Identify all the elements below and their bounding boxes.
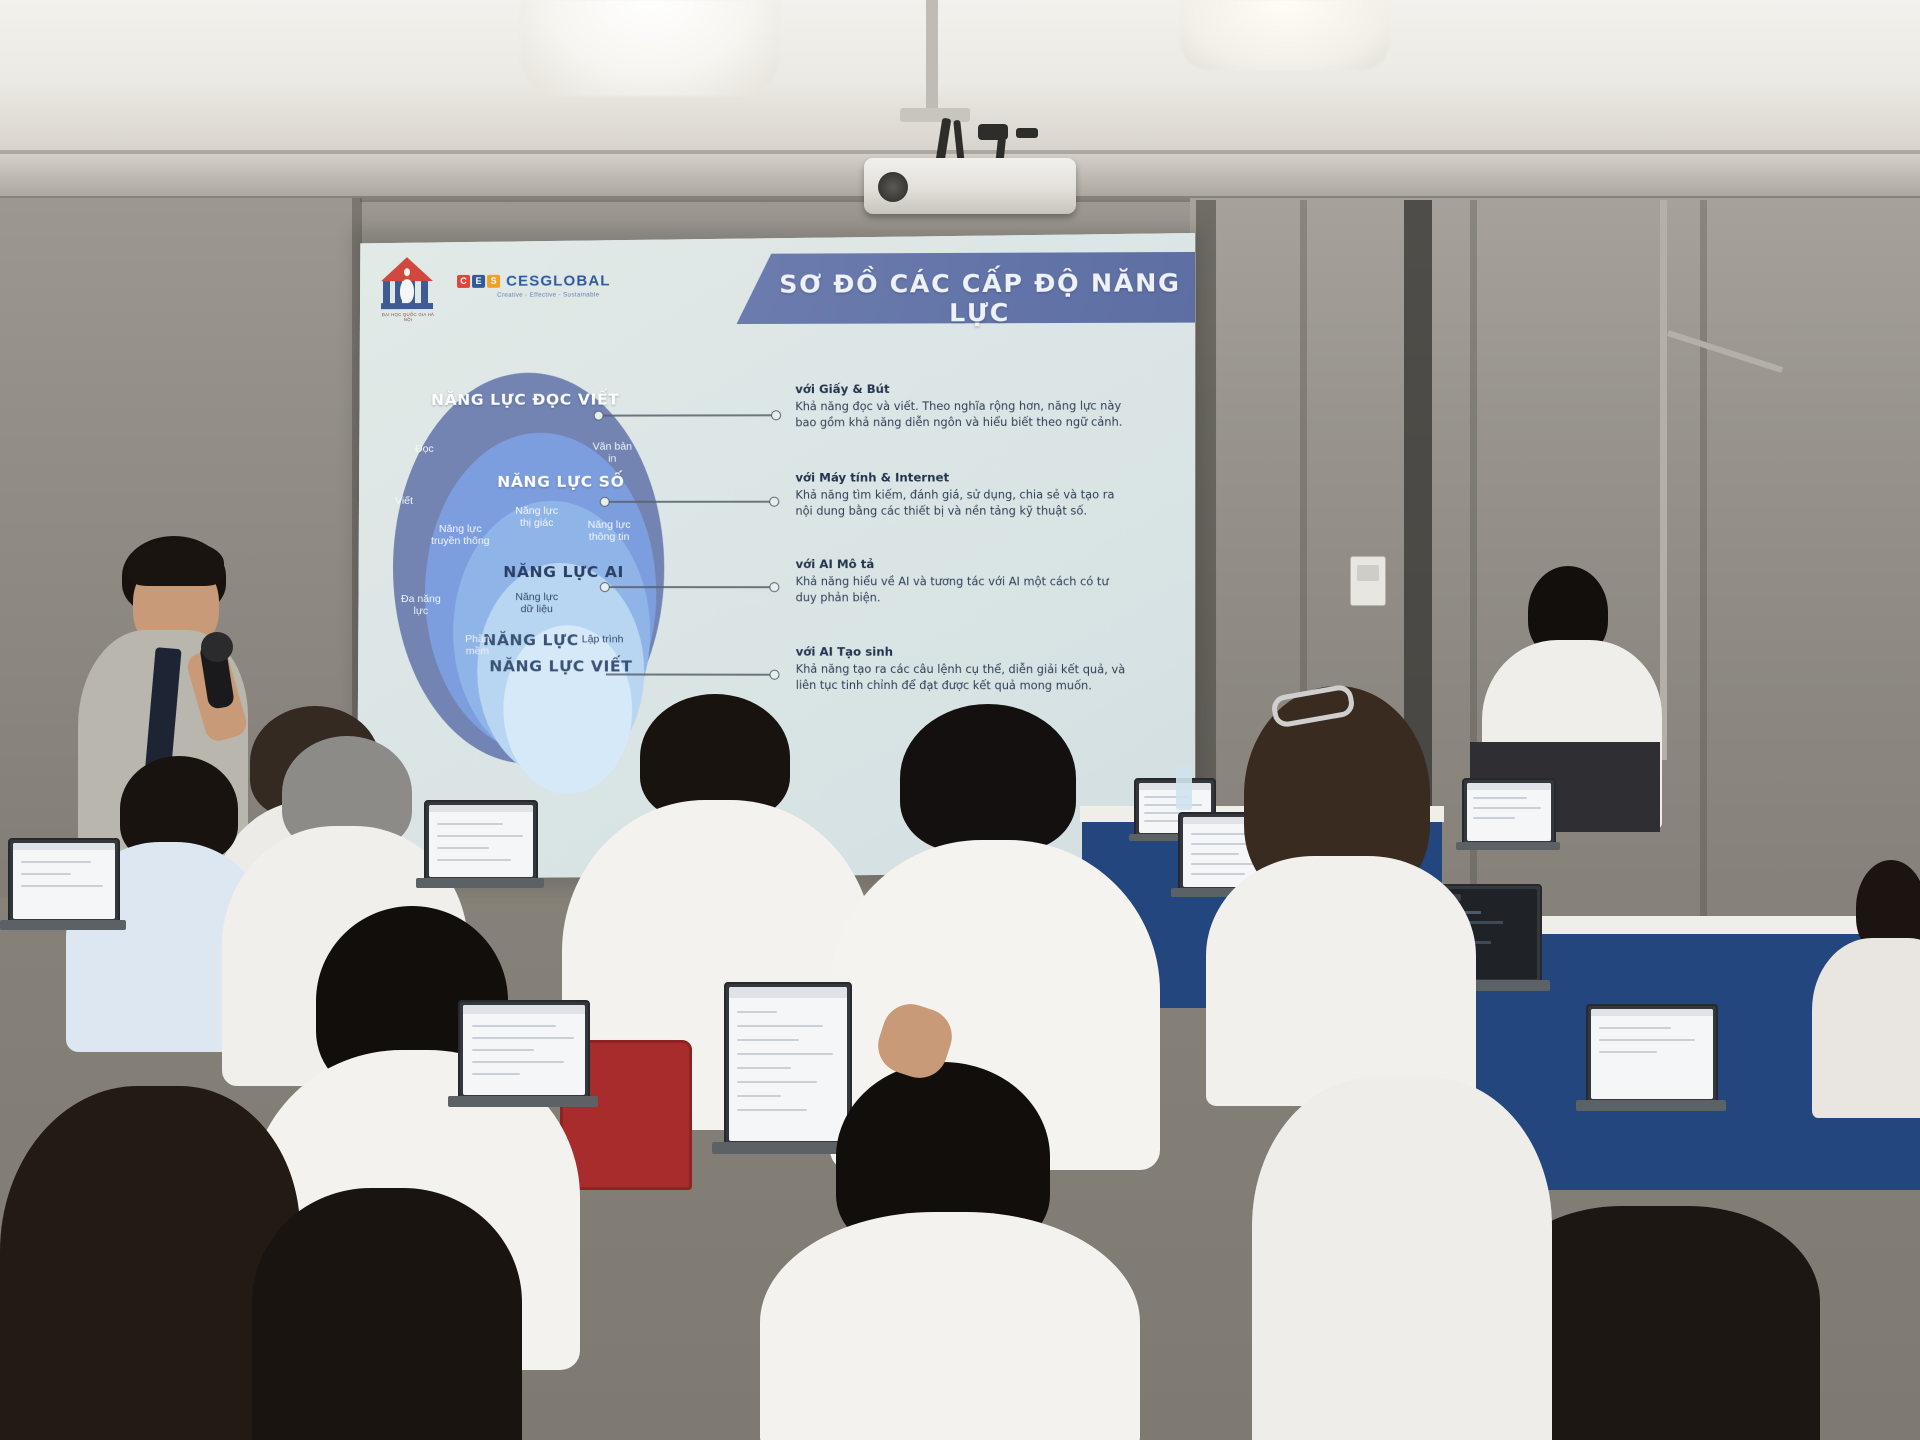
connector-line-2 xyxy=(606,501,773,503)
laptop-mid-left-screen[interactable] xyxy=(429,805,533,877)
microphone-head xyxy=(201,632,233,662)
callout-ai-tao-sinh-heading: với AI Tạo sinh xyxy=(796,645,1132,660)
callout-giay-but-heading: với Giấy & Bút xyxy=(795,381,1130,396)
wall-seam-c xyxy=(1700,200,1707,920)
ring-label-nang-luc-so: NĂNG LỰC SỐ xyxy=(497,473,624,491)
ces-tagline: Creative - Effective - Sustainable xyxy=(497,291,599,298)
laptop-fg-right-screen[interactable] xyxy=(1591,1009,1713,1099)
sublabel-da-nang-luc: Đa nănglực xyxy=(401,593,441,618)
connector-knob-1a xyxy=(594,411,604,421)
callout-giay-but: với Giấy & Bút Khả năng đọc và viết. The… xyxy=(795,381,1130,431)
sublabel-lap-trinh: Lập trình xyxy=(582,633,624,645)
laptop-fg-center-screen[interactable] xyxy=(729,987,847,1141)
sublabel-viet: Viết xyxy=(395,495,413,507)
laptop-far-right-a-screen[interactable] xyxy=(1467,783,1551,841)
callout-giay-but-body: Khả năng đọc và viết. Theo nghĩa rộng hơ… xyxy=(795,398,1130,431)
projector-mount-pole xyxy=(926,0,938,120)
connector-line-1 xyxy=(600,414,775,416)
ring-gen-ai-inner xyxy=(503,625,632,794)
attendee-fg-right-body xyxy=(1252,1078,1552,1440)
wall-conduit-vertical xyxy=(1660,200,1667,760)
sublabel-truyen-thong: Năng lựctruyền thông xyxy=(431,523,490,548)
sublabel-phan-mem: Phầnmềm xyxy=(465,633,490,658)
callout-ai-mo-ta: với AI Mô tả Khả năng hiểu về AI và tươn… xyxy=(796,557,1132,606)
ring-label-nang-luc-ai: NĂNG LỰC AI xyxy=(503,563,624,581)
connector-knob-2b xyxy=(769,497,779,507)
connector-knob-1b xyxy=(771,410,781,420)
connector-line-3 xyxy=(606,586,774,588)
water-bottle xyxy=(1176,766,1192,810)
screenshot-root: ĐẠI HỌC QUỐC GIA HÀ NỘI CESCESGLOBAL Cre… xyxy=(0,0,1920,1440)
university-logo-caption: ĐẠI HỌC QUỐC GIA HÀ NỘI xyxy=(379,312,437,322)
connector-knob-3a xyxy=(600,582,610,592)
callout-ai-mo-ta-body: Khả năng hiểu về AI và tương tác với AI … xyxy=(796,574,1132,606)
ring-label-doc-viet: NĂNG LỰC ĐỌC VIẾT xyxy=(431,391,619,409)
connector-knob-2a xyxy=(600,497,610,507)
ces-wordmark: CESGLOBAL xyxy=(506,273,611,290)
sublabel-du-lieu: Năng lựcdữ liệu xyxy=(515,591,558,616)
ces-letter-c: C xyxy=(457,275,470,288)
sublabel-thong-tin: Năng lựcthông tin xyxy=(588,519,631,544)
ces-letter-e: E xyxy=(472,275,485,288)
callout-may-tinh-internet: với Máy tính & Internet Khả năng tìm kiế… xyxy=(795,470,1130,519)
wall-thermostat xyxy=(1350,556,1386,606)
callout-may-tinh-heading: với Máy tính & Internet xyxy=(795,470,1130,484)
ces-logo: CESCESGLOBAL Creative - Effective - Sust… xyxy=(457,272,611,291)
callout-may-tinh-body: Khả năng tìm kiếm, đánh giá, sử dụng, ch… xyxy=(795,487,1130,519)
ceiling-light-left xyxy=(520,0,780,96)
projector-lens xyxy=(878,172,908,202)
callout-ai-mo-ta-heading: với AI Mô tả xyxy=(796,557,1131,571)
sublabel-van-ban-in: Văn bảnin xyxy=(593,441,632,466)
sublabel-thi-giac: Năng lựcthị giác xyxy=(515,505,558,530)
connector-line-4 xyxy=(606,673,774,675)
attendee-fg-left-head xyxy=(252,1188,522,1440)
ring-label-gen-ai: NĂNG LỰC xyxy=(483,631,579,649)
ceiling-light-right xyxy=(1180,0,1390,70)
sublabel-doc: Đọc xyxy=(415,443,434,455)
slide-title: SƠ ĐỒ CÁC CẤP ĐỘ NĂNG LỰC xyxy=(777,268,1183,328)
connector-knob-4b xyxy=(769,670,779,680)
connector-knob-3b xyxy=(769,582,779,592)
laptop-far-left-screen[interactable] xyxy=(13,843,115,919)
callout-ai-tao-sinh-body: Khả năng tạo ra các câu lệnh cụ thể, diễ… xyxy=(796,662,1132,695)
university-logo-icon: ĐẠI HỌC QUỐC GIA HÀ NỘI xyxy=(379,257,435,319)
ces-letter-s: S xyxy=(487,275,500,288)
callout-ai-tao-sinh: với AI Tạo sinh Khả năng tạo ra các câu … xyxy=(796,645,1132,695)
laptop-fg-left-screen[interactable] xyxy=(463,1005,585,1095)
